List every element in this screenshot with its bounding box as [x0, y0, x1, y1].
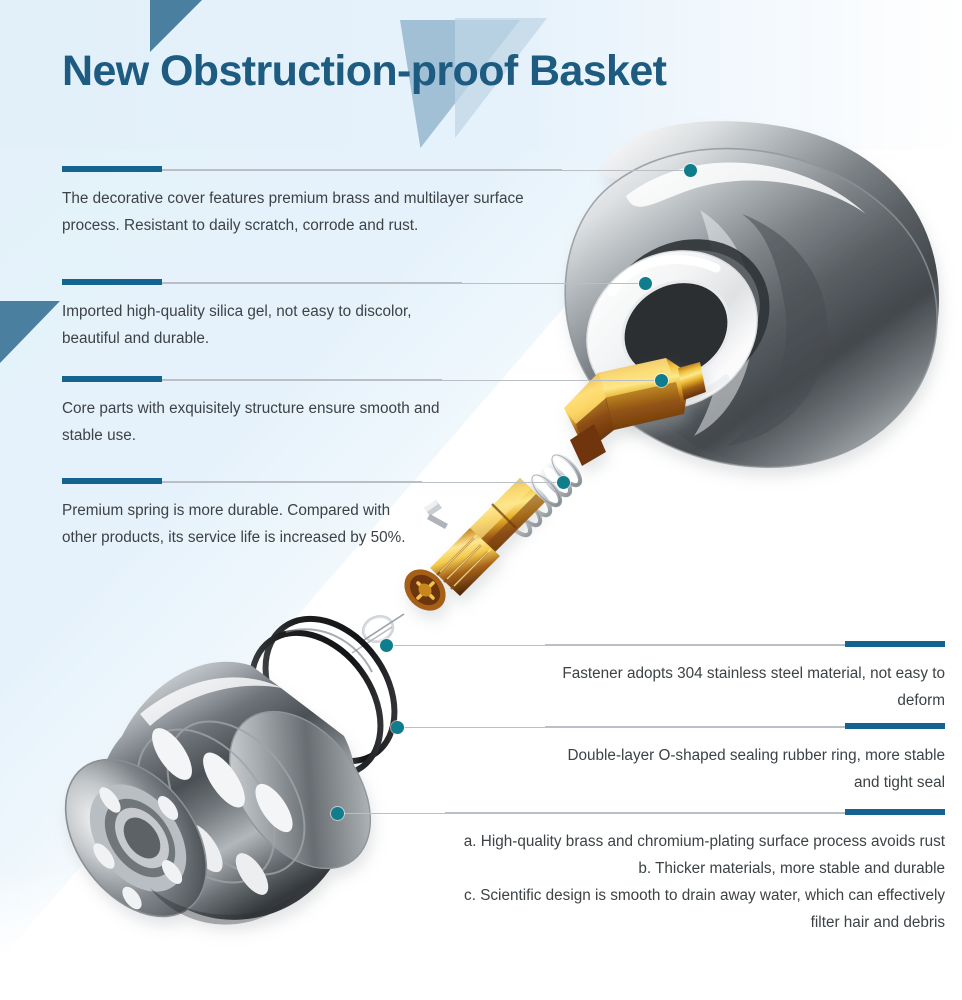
- callout-core-parts: Core parts with exquisitely structure en…: [62, 376, 442, 449]
- accent-bar: [845, 641, 945, 647]
- anchor-dot-oring: [391, 721, 404, 734]
- accent-bar: [845, 723, 945, 729]
- callout-text: a. High-quality brass and chromium-plati…: [445, 828, 945, 936]
- callout-text: Core parts with exquisitely structure en…: [62, 395, 442, 449]
- callout-rule: [62, 376, 442, 384]
- callout-rule: [62, 279, 462, 287]
- callout-basket-body: a. High-quality brass and chromium-plati…: [445, 809, 945, 936]
- accent-bar: [62, 478, 162, 484]
- callout-text: Imported high-quality silica gel, not ea…: [62, 298, 462, 352]
- callout-rule: [545, 641, 945, 649]
- accent-bar: [62, 279, 162, 285]
- callout-rule: [62, 478, 422, 486]
- callout-text: Double-layer O-shaped sealing rubber rin…: [545, 742, 945, 796]
- callout-silica-gel: Imported high-quality silica gel, not ea…: [62, 279, 462, 352]
- callout-rule: [62, 166, 562, 174]
- callout-text: Fastener adopts 304 stainless steel mate…: [545, 660, 945, 714]
- anchor-dot-spring: [557, 476, 570, 489]
- anchor-dot-core: [655, 374, 668, 387]
- anchor-dot-cover: [684, 164, 697, 177]
- callout-fastener: Fastener adopts 304 stainless steel mate…: [545, 641, 945, 714]
- callout-premium-spring: Premium spring is more durable. Compared…: [62, 478, 422, 551]
- callout-rule: [545, 723, 945, 731]
- accent-bar: [62, 376, 162, 382]
- callout-rule: [445, 809, 945, 817]
- page-title: New Obstruction-proof Basket: [62, 47, 666, 96]
- callout-text: Premium spring is more durable. Compared…: [62, 497, 422, 551]
- infographic-canvas: New Obstruction-proof Basket The decorat…: [0, 0, 962, 1000]
- callout-text: The decorative cover features premium br…: [62, 185, 562, 239]
- callout-sealing-ring: Double-layer O-shaped sealing rubber rin…: [545, 723, 945, 796]
- accent-bar: [62, 166, 162, 172]
- anchor-dot-silica: [639, 277, 652, 290]
- anchor-dot-basket: [331, 807, 344, 820]
- callout-decorative-cover: The decorative cover features premium br…: [62, 166, 562, 239]
- anchor-dot-fastener: [380, 639, 393, 652]
- accent-bar: [845, 809, 945, 815]
